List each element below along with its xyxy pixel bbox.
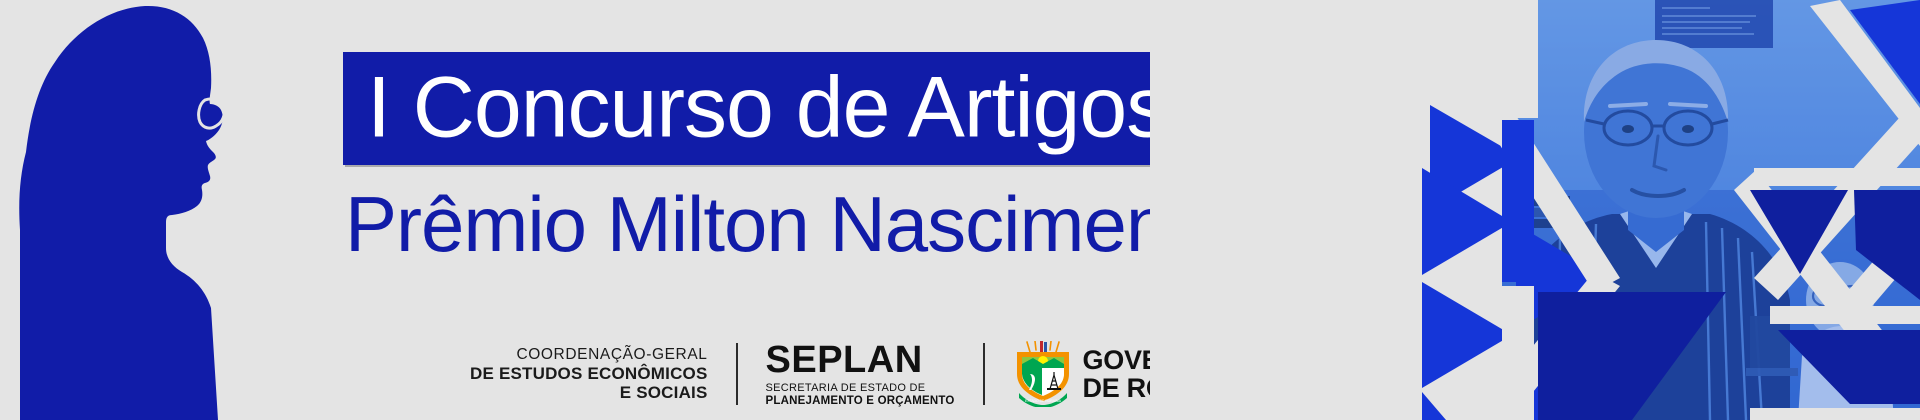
- divider-1: [736, 343, 738, 405]
- roraima-coat-of-arms-icon: ESTADO DE RORAIMA: [1013, 341, 1073, 407]
- coordination-logo: COORDENAÇÃO-GERAL DE ESTUDOS ECONÔMICOS …: [470, 346, 708, 401]
- footer-logo-strip: COORDENAÇÃO-GERAL DE ESTUDOS ECONÔMICOS …: [470, 338, 1254, 410]
- page-subtitle: Prêmio Milton Nascimento: [345, 185, 1231, 263]
- coordination-line-1: COORDENAÇÃO-GERAL: [470, 346, 708, 363]
- seplan-line-2: PLANEJAMENTO E ORÇAMENTO: [766, 396, 955, 408]
- seplan-logo: SEPLAN SECRETARIA DE ESTADO DE PLANEJAME…: [766, 341, 955, 408]
- right-graphic-panel: [1150, 0, 1920, 420]
- page-title: I Concurso de Artigos: [367, 64, 1168, 150]
- coordination-line-3: E SOCIAIS: [470, 383, 708, 402]
- seplan-line-1: SECRETARIA DE ESTADO DE: [766, 383, 955, 394]
- svg-text:ESTADO DE RORAIMA: ESTADO DE RORAIMA: [1024, 399, 1061, 403]
- divider-2: [983, 343, 985, 405]
- man-profile-silhouette: [0, 0, 265, 420]
- seplan-wordmark: SEPLAN: [766, 341, 955, 379]
- coordination-line-2: DE ESTUDOS ECONÔMICOS: [470, 364, 708, 383]
- event-banner: I Concurso de Artigos Prêmio Milton Nasc…: [0, 0, 1920, 420]
